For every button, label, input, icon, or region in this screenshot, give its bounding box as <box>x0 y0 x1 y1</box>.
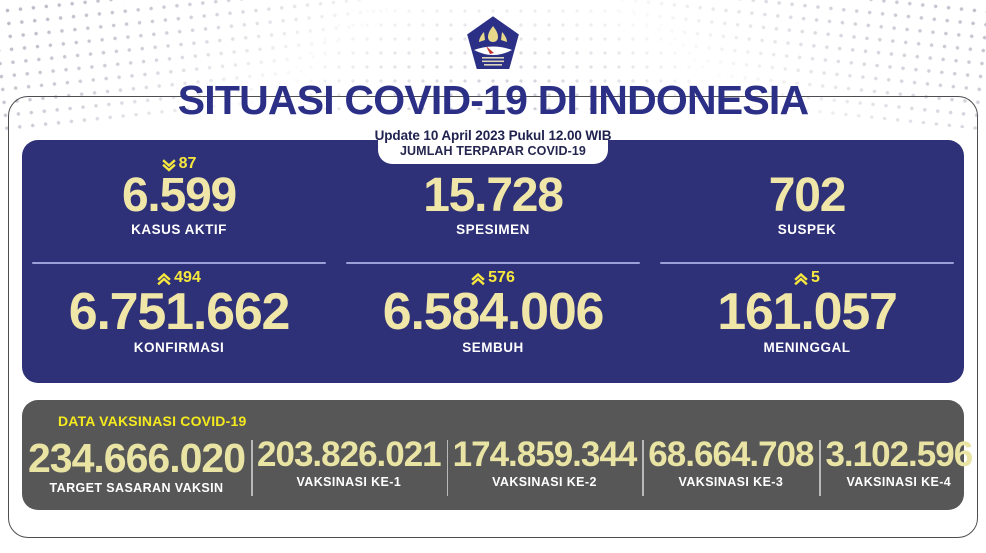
stat-label-sembuh: SEMBUH <box>336 340 650 355</box>
stat-value-sembuh: 6.584.006 <box>336 286 650 339</box>
stats-row-secondary: 494 6.751.662 KONFIRMASI 576 6.584.006 S… <box>22 268 964 378</box>
double-chevron-up-icon <box>157 272 171 286</box>
stat-value-kasus-aktif: 6.599 <box>22 172 336 221</box>
double-chevron-up-icon <box>794 272 808 286</box>
vax-card-dose-4: 3.102.596 VAKSINASI KE-4 <box>819 436 978 489</box>
vax-value-dose-2: 174.859.344 <box>453 436 637 474</box>
stat-label-spesimen: SPESIMEN <box>336 222 650 237</box>
double-chevron-down-icon <box>162 158 176 172</box>
vax-label-target-sasaran: TARGET SASARAN VAKSIN <box>28 481 245 495</box>
stat-label-suspek: SUSPEK <box>650 222 964 237</box>
vax-card-target-sasaran: 234.666.020 TARGET SASARAN VAKSIN <box>22 436 251 495</box>
ministry-of-health-emblem-icon <box>464 14 522 76</box>
vaccination-data-panel: DATA VAKSINASI COVID-19 234.666.020 TARG… <box>22 400 964 510</box>
divider-segment-center <box>346 262 640 264</box>
vaccination-panel-title: DATA VAKSINASI COVID-19 <box>58 413 246 429</box>
stat-label-konfirmasi: KONFIRMASI <box>22 340 336 355</box>
vax-card-dose-3: 68.664.708 VAKSINASI KE-3 <box>642 436 819 489</box>
stat-card-kasus-aktif: 87 6.599 KASUS AKTIF <box>22 154 336 260</box>
stats-row-primary: 87 6.599 KASUS AKTIF 15.728 SPESIMEN 702… <box>22 154 964 260</box>
stat-card-spesimen: 15.728 SPESIMEN <box>336 154 650 260</box>
vax-card-dose-1: 203.826.021 VAKSINASI KE-1 <box>251 436 447 489</box>
delta-meninggal: 5 <box>650 268 964 287</box>
covid-statistics-panel: JUMLAH TERPAPAR COVID-19 87 6.599 KASUS … <box>22 140 964 383</box>
vax-label-dose-2: VAKSINASI KE-2 <box>453 475 637 489</box>
vax-label-dose-1: VAKSINASI KE-1 <box>257 475 441 489</box>
vax-value-target-sasaran: 234.666.020 <box>28 436 245 480</box>
vax-value-dose-1: 203.826.021 <box>257 436 441 474</box>
page-header: SITUASI COVID-19 DI INDONESIA Update 10 … <box>0 0 986 143</box>
stat-value-meninggal: 161.057 <box>650 286 964 339</box>
stat-value-konfirmasi: 6.751.662 <box>22 286 336 339</box>
divider-segment-right <box>660 262 954 264</box>
vax-card-dose-2: 174.859.344 VAKSINASI KE-2 <box>447 436 643 489</box>
stat-card-konfirmasi: 494 6.751.662 KONFIRMASI <box>22 268 336 378</box>
divider-segment-left <box>32 262 326 264</box>
stat-card-meninggal: 5 161.057 MENINGGAL <box>650 268 964 378</box>
vax-label-dose-4: VAKSINASI KE-4 <box>825 475 972 489</box>
stat-card-suspek: 702 SUSPEK <box>650 154 964 260</box>
page-title: SITUASI COVID-19 DI INDONESIA <box>0 80 986 121</box>
stat-value-suspek: 702 <box>650 172 964 221</box>
vax-label-dose-3: VAKSINASI KE-3 <box>648 475 813 489</box>
stat-label-meninggal: MENINGGAL <box>650 340 964 355</box>
double-chevron-up-icon <box>471 272 485 286</box>
vax-value-dose-4: 3.102.596 <box>825 436 972 474</box>
stat-card-sembuh: 576 6.584.006 SEMBUH <box>336 268 650 378</box>
stat-label-kasus-aktif: KASUS AKTIF <box>22 222 336 237</box>
stats-divider-row <box>22 262 964 264</box>
stat-value-spesimen: 15.728 <box>336 172 650 221</box>
update-timestamp: Update 10 April 2023 Pukul 12.00 WIB <box>0 128 986 143</box>
vax-value-dose-3: 68.664.708 <box>648 436 813 474</box>
vaccination-stats-row: 234.666.020 TARGET SASARAN VAKSIN 203.82… <box>22 436 964 502</box>
